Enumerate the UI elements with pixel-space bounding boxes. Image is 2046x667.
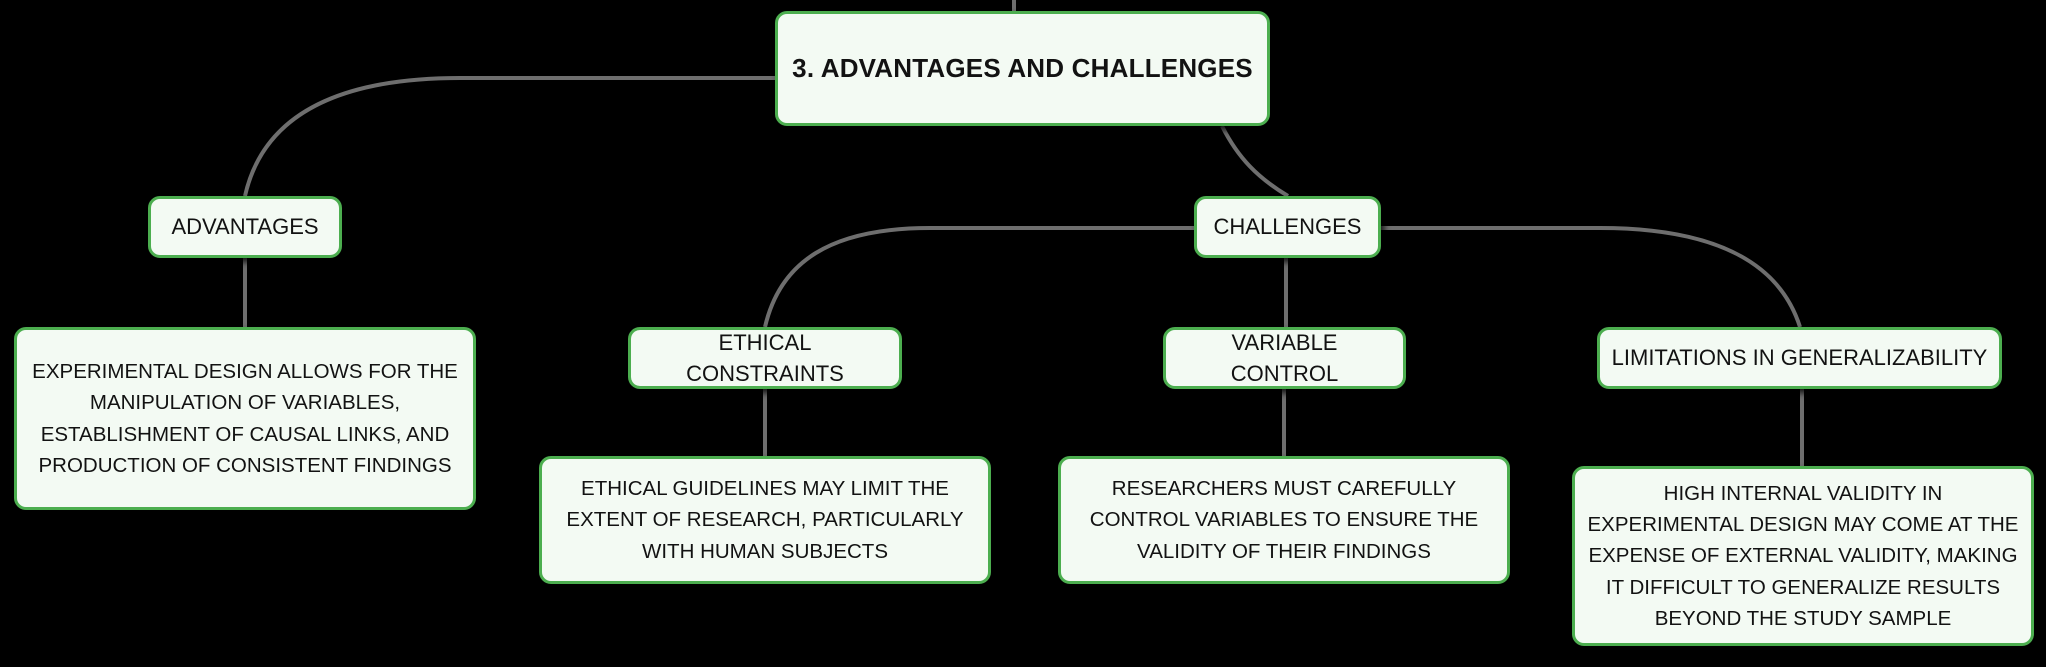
node-advantages-label: ADVANTAGES (151, 211, 339, 242)
node-limitations[interactable]: LIMITATIONS IN GENERALIZABILITY (1597, 327, 2002, 389)
node-limitations-detail[interactable]: HIGH INTERNAL VALIDITY IN EXPERIMENTAL D… (1572, 466, 2034, 646)
node-root-label: 3. ADVANTAGES AND CHALLENGES (778, 50, 1267, 87)
node-variable-control-detail[interactable]: RESEARCHERS MUST CAREFULLY CONTROL VARIA… (1058, 456, 1510, 584)
connector-challenges-to-limitations (1381, 228, 1800, 327)
node-ethical-constraints-detail[interactable]: ETHICAL GUIDELINES MAY LIMIT THE EXTENT … (539, 456, 991, 584)
node-limitations-label: LIMITATIONS IN GENERALIZABILITY (1600, 342, 1999, 373)
mindmap-canvas: 3. ADVANTAGES AND CHALLENGES ADVANTAGES … (0, 0, 2046, 667)
node-advantages-detail-label: EXPERIMENTAL DESIGN ALLOWS FOR THE MANIP… (17, 356, 473, 481)
node-advantages-detail[interactable]: EXPERIMENTAL DESIGN ALLOWS FOR THE MANIP… (14, 327, 476, 510)
connector-root-to-challenges (1222, 126, 1288, 196)
node-limitations-detail-label: HIGH INTERNAL VALIDITY IN EXPERIMENTAL D… (1575, 478, 2031, 634)
node-root[interactable]: 3. ADVANTAGES AND CHALLENGES (775, 11, 1270, 126)
node-challenges[interactable]: CHALLENGES (1194, 196, 1381, 258)
node-ethical-constraints-detail-label: ETHICAL GUIDELINES MAY LIMIT THE EXTENT … (542, 473, 988, 566)
node-ethical-constraints-label: ETHICAL CONSTRAINTS (631, 327, 899, 389)
node-variable-control-label: VARIABLE CONTROL (1166, 327, 1403, 389)
connector-root-to-advantages (245, 78, 775, 196)
node-variable-control-detail-label: RESEARCHERS MUST CAREFULLY CONTROL VARIA… (1061, 473, 1507, 566)
node-variable-control[interactable]: VARIABLE CONTROL (1163, 327, 1406, 389)
node-advantages[interactable]: ADVANTAGES (148, 196, 342, 258)
node-ethical-constraints[interactable]: ETHICAL CONSTRAINTS (628, 327, 902, 389)
node-challenges-label: CHALLENGES (1197, 211, 1378, 242)
connector-challenges-to-ethical (765, 228, 1194, 327)
